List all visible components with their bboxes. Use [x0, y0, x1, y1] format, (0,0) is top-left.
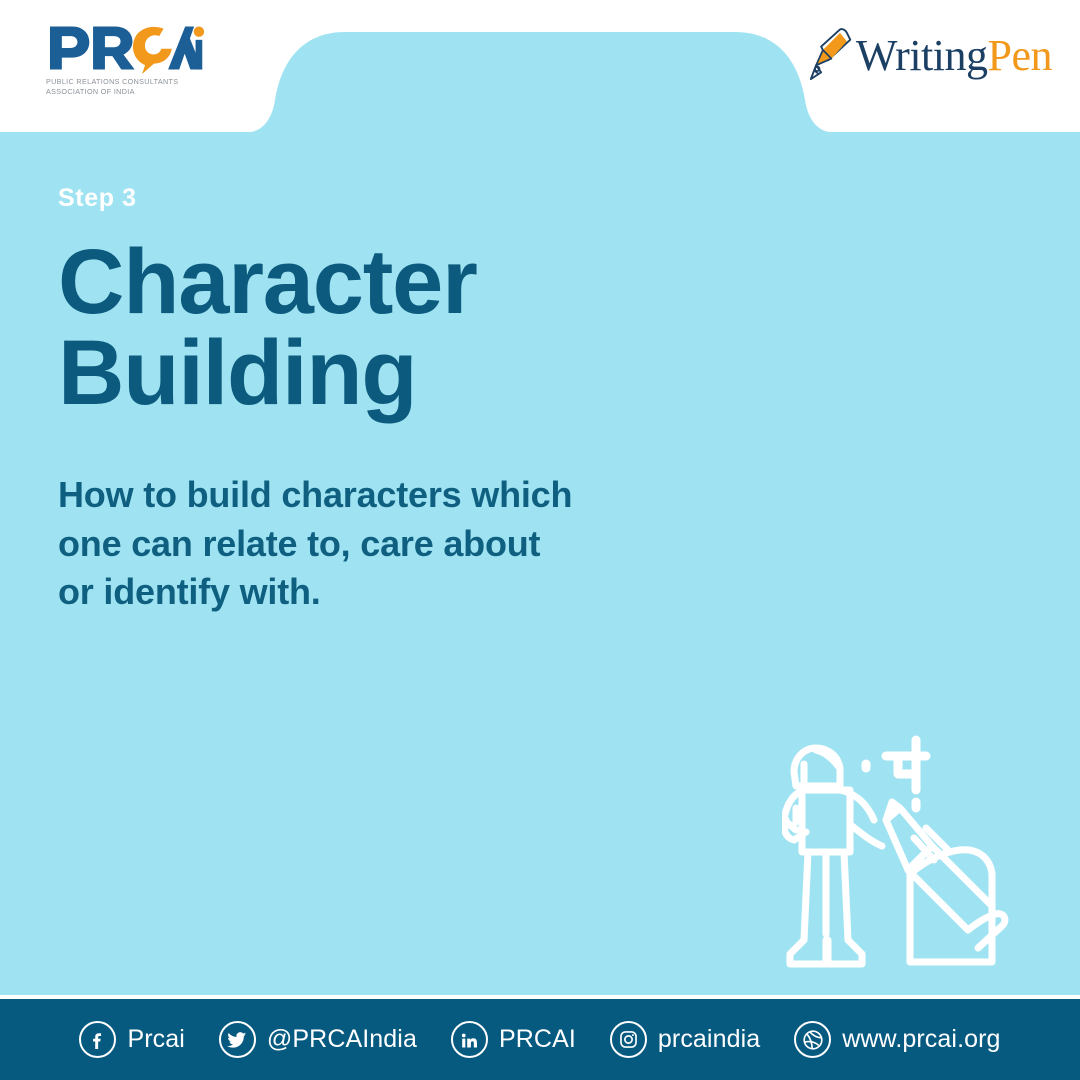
- social-link-linkedin[interactable]: PRCAI: [451, 1021, 576, 1058]
- writingpen-word-writing: Writing: [856, 31, 988, 80]
- linkedin-icon: [451, 1021, 488, 1058]
- social-label-website: www.prcai.org: [842, 1025, 1000, 1054]
- page-subtitle: How to build characters which one can re…: [58, 471, 778, 617]
- writingpen-logo: WritingPen: [802, 26, 1052, 86]
- step-label: Step 3: [58, 186, 778, 211]
- person-with-giant-pen-illustration: [782, 734, 1022, 992]
- dribbble-icon: [794, 1021, 831, 1058]
- writingpen-wordmark: WritingPen: [856, 34, 1052, 78]
- social-label-twitter: @PRCAIndia: [267, 1025, 417, 1054]
- social-label-linkedin: PRCAI: [499, 1025, 576, 1054]
- prcai-logo: PUBLIC RELATIONS CONSULTANTS ASSOCIATION…: [46, 22, 226, 97]
- social-media-post: PUBLIC RELATIONS CONSULTANTS ASSOCIATION…: [0, 0, 1080, 1080]
- page-title: Character Building: [58, 237, 778, 419]
- fountain-pen-icon: [802, 26, 854, 86]
- facebook-icon: [79, 1021, 116, 1058]
- social-link-instagram[interactable]: prcaindia: [610, 1021, 760, 1058]
- footer-social-bar: Prcai @PRCAIndia PRCAI prcaindia: [0, 999, 1080, 1080]
- twitter-icon: [219, 1021, 256, 1058]
- instagram-icon: [610, 1021, 647, 1058]
- prcai-logo-mark: [46, 22, 204, 74]
- writingpen-word-pen: Pen: [988, 31, 1053, 80]
- social-label-instagram: prcaindia: [658, 1025, 760, 1054]
- main-content: Step 3 Character Building How to build c…: [58, 186, 778, 617]
- prcai-tagline: PUBLIC RELATIONS CONSULTANTS ASSOCIATION…: [46, 77, 226, 97]
- social-label-facebook: Prcai: [127, 1025, 184, 1054]
- social-link-twitter[interactable]: @PRCAIndia: [219, 1021, 417, 1058]
- social-link-facebook[interactable]: Prcai: [79, 1021, 184, 1058]
- social-link-website[interactable]: www.prcai.org: [794, 1021, 1000, 1058]
